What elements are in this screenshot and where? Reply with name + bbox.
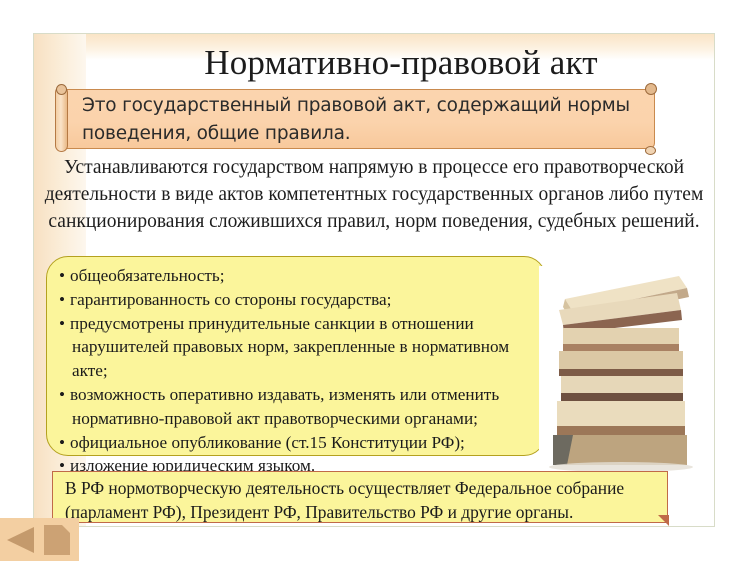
page-fold-corner-icon bbox=[62, 525, 70, 533]
list-item: гарантированность со стороны государства… bbox=[59, 288, 535, 312]
definition-paragraph: Устанавливаются государством напрямую в … bbox=[44, 154, 704, 235]
scroll-curl-left-icon bbox=[55, 86, 68, 152]
note-folded-corner-icon bbox=[658, 515, 669, 526]
bottom-note-text: В РФ нормотворческую деятельность осущес… bbox=[65, 476, 657, 524]
scroll-curl-top-left-icon bbox=[56, 84, 67, 95]
features-panel: общеобязательность; гарантированность со… bbox=[46, 256, 546, 456]
slide-canvas: Нормативно-правовой акт Это государствен… bbox=[33, 33, 715, 527]
navigation-bar bbox=[0, 518, 79, 561]
list-item: предусмотрены принудительные санкции в о… bbox=[59, 312, 535, 383]
page-document-icon[interactable] bbox=[44, 525, 70, 555]
definition-banner-body: Это государственный правовой акт, содерж… bbox=[57, 89, 655, 149]
definition-banner-text: Это государственный правовой акт, содерж… bbox=[82, 92, 662, 148]
bottom-note-box: В РФ нормотворческую деятельность осущес… bbox=[52, 471, 668, 523]
features-list: общеобязательность; гарантированность со… bbox=[59, 264, 535, 478]
previous-arrow-icon[interactable] bbox=[7, 527, 34, 553]
definition-scroll-banner: Это государственный правовой акт, содерж… bbox=[45, 89, 667, 151]
page-title: Нормативно-правовой акт bbox=[86, 40, 715, 86]
stack-of-books-image bbox=[539, 266, 714, 471]
list-item: официальное опубликование (ст.15 Констит… bbox=[59, 431, 535, 455]
list-item: возможность оперативно издавать, изменят… bbox=[59, 383, 535, 431]
scroll-curl-top-right-icon bbox=[645, 83, 657, 95]
list-item: общеобязательность; bbox=[59, 264, 535, 288]
